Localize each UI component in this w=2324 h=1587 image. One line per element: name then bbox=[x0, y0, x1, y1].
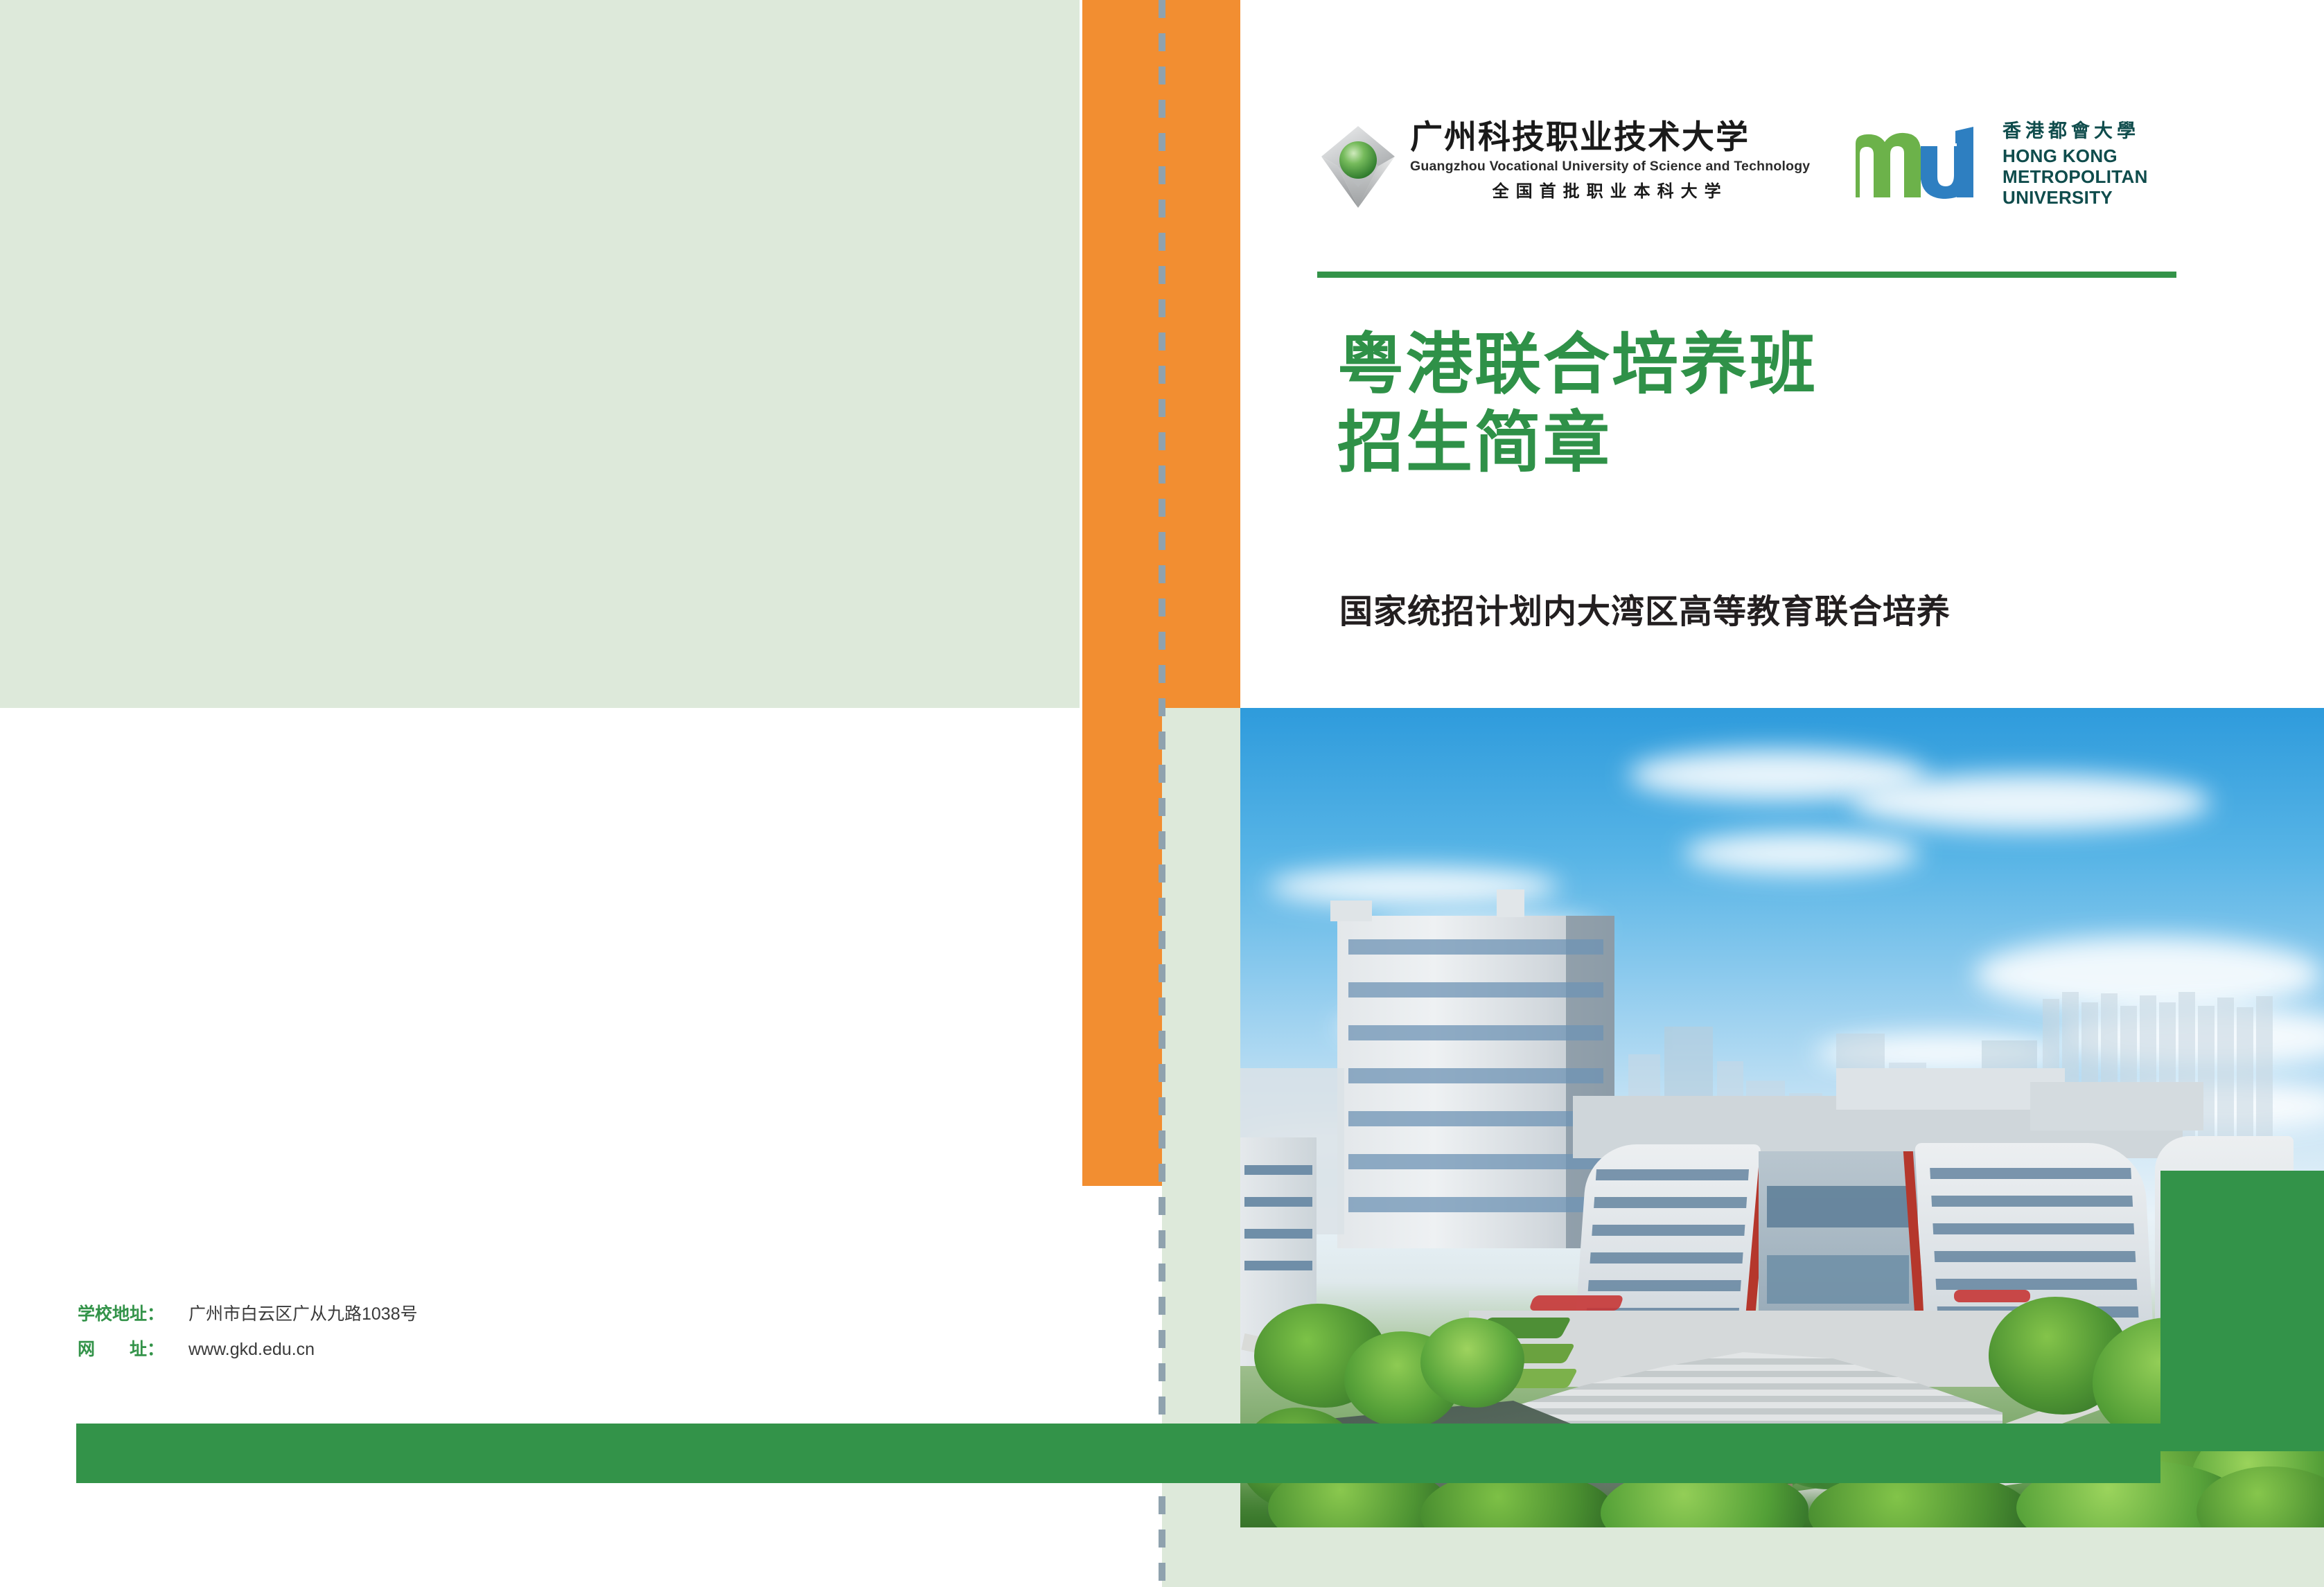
academic-tower bbox=[1337, 916, 1614, 1248]
page-subtitle: 国家统招计划内大湾区高等教育联合培养 bbox=[1339, 592, 2212, 632]
diamond-gem-logo bbox=[1317, 121, 1399, 212]
page-title: 粤港联合培养班 招生简章 bbox=[1337, 326, 2210, 483]
gvust-name-en: Guangzhou Vocational University of Scien… bbox=[1410, 160, 1810, 174]
green-footer-bar bbox=[76, 1424, 2160, 1483]
page-title-line2: 招生简章 bbox=[1337, 404, 2210, 482]
cover-page: 广州科技职业技术大学 Guangzhou Vocational Universi… bbox=[0, 0, 2324, 1587]
contact-address-label: 学校地址： bbox=[78, 1306, 188, 1323]
hkmu-name-cn: 香港都會大學 bbox=[2002, 122, 2148, 141]
logo-row: 广州科技职业技术大学 Guangzhou Vocational Universi… bbox=[1317, 118, 2176, 229]
contact-website-value[interactable]: www.gkd.edu.cn bbox=[188, 1341, 315, 1358]
page-title-line1: 粤港联合培养班 bbox=[1337, 326, 2210, 404]
hkmu-name-en-1: HONG KONG bbox=[2002, 147, 2148, 165]
fold-dashed-line bbox=[1159, 0, 1165, 1587]
light-green-panel bbox=[0, 0, 1080, 708]
hkmu-mu-logo bbox=[1851, 125, 1987, 203]
gvust-logo: 广州科技职业技术大学 Guangzhou Vocational Universi… bbox=[1317, 118, 1810, 212]
contact-address-value: 广州市白云区广从九路1038号 bbox=[188, 1306, 418, 1323]
gvust-tagline: 全国首批职业本科大学 bbox=[1410, 184, 1810, 200]
contact-address-row: 学校地址： 广州市白云区广从九路1038号 bbox=[78, 1306, 418, 1323]
header-divider bbox=[1317, 272, 2176, 278]
hkmu-name-en-3: UNIVERSITY bbox=[2002, 188, 2148, 206]
contact-website-row: 网 址： www.gkd.edu.cn bbox=[78, 1341, 418, 1358]
contact-block: 学校地址： 广州市白云区广从九路1038号 网 址： www.gkd.edu.c… bbox=[78, 1306, 418, 1376]
contact-website-label: 网 址： bbox=[78, 1341, 188, 1358]
green-accent-block bbox=[2160, 1171, 2324, 1451]
hkmu-logo: 香港都會大學 HONG KONG METROPOLITAN UNIVERSITY bbox=[1851, 122, 2148, 206]
gvust-name-cn: 广州科技职业技术大学 bbox=[1410, 121, 1810, 153]
hkmu-name-en-2: METROPOLITAN bbox=[2002, 168, 2148, 186]
